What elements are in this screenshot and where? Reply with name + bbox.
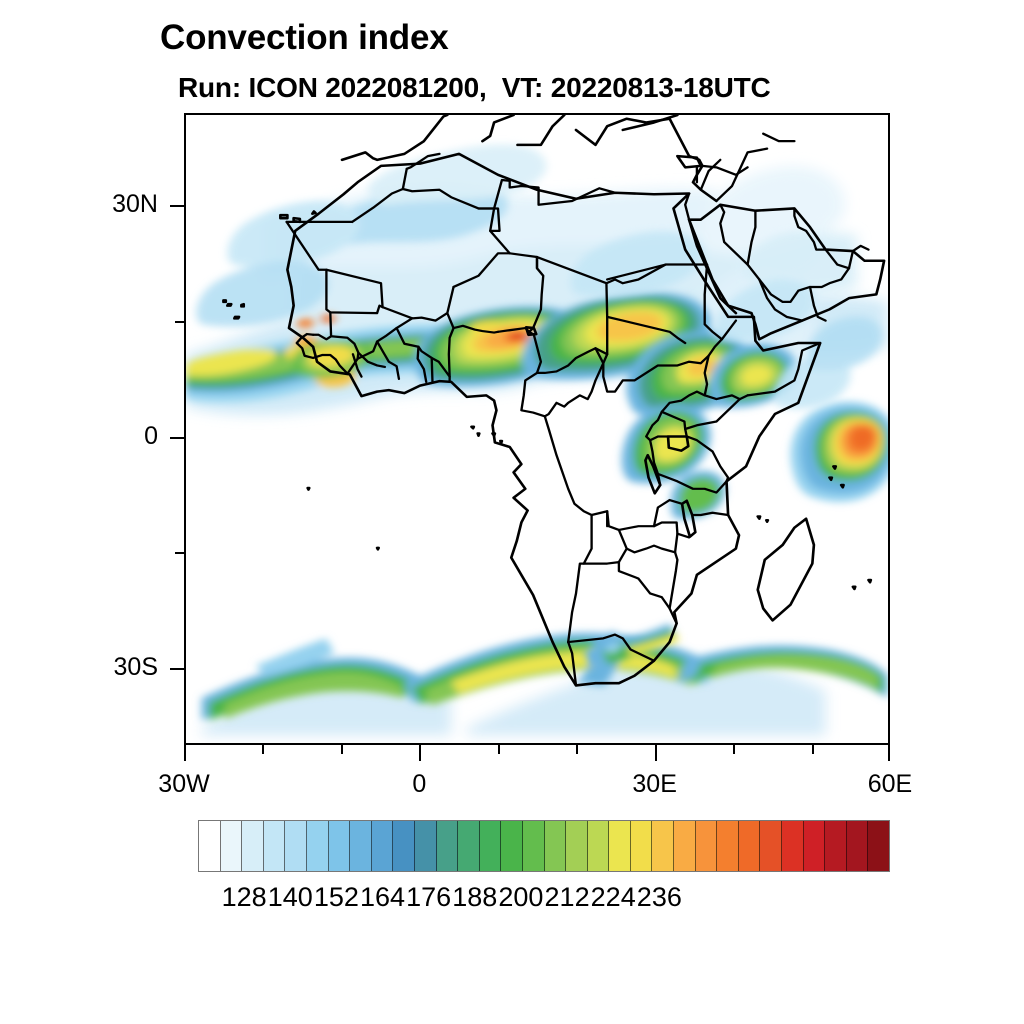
colorbar-cell (588, 821, 610, 871)
longitude-tick (419, 745, 421, 761)
colorbar-tick-label: 188 (452, 882, 497, 912)
colorbar-cell (458, 821, 480, 871)
longitude-tick (184, 745, 186, 761)
colorbar-cell (847, 821, 869, 871)
latitude-tick (175, 552, 184, 554)
colorbar-cell (415, 821, 437, 871)
longitude-tick (812, 745, 814, 754)
colorbar-cell (652, 821, 674, 871)
colorbar-tick-label: 200 (498, 882, 543, 912)
colorbar-cell (307, 821, 329, 871)
latitude-tick (170, 205, 184, 207)
colorbar-cell (717, 821, 739, 871)
chart-subtitle: Run: ICON 2022081200, VT: 20220813-18UTC (178, 72, 771, 104)
colorbar-tick-label: 176 (406, 882, 451, 912)
colorbar-tick-label: 140 (268, 882, 313, 912)
colorbar-cell (523, 821, 545, 871)
longitude-tick-label: 60E (830, 772, 950, 797)
colorbar-cell (501, 821, 523, 871)
colorbar-cell (609, 821, 631, 871)
colorbar-cell (545, 821, 567, 871)
colorbar-cell (631, 821, 653, 871)
longitude-tick (733, 745, 735, 754)
colorbar-cell (264, 821, 286, 871)
colorbar-cell (393, 821, 415, 871)
colorbar-tick-label: 224 (591, 882, 636, 912)
colorbar-tick-label: 128 (222, 882, 267, 912)
colorbar-cell (199, 821, 221, 871)
colorbar-cell (566, 821, 588, 871)
colorbar-cell (242, 821, 264, 871)
colorbar-cell (782, 821, 804, 871)
longitude-tick (262, 745, 264, 754)
colorbar-cell (760, 821, 782, 871)
latitude-tick-label: 0 (68, 424, 158, 449)
colorbar-cell (285, 821, 307, 871)
longitude-axis: 30W030E60E (184, 745, 890, 805)
chart-title: Convection index (160, 18, 449, 58)
colorbar-cell (696, 821, 718, 871)
longitude-tick (498, 745, 500, 754)
latitude-tick (170, 668, 184, 670)
colorbar-tick-label: 164 (360, 882, 405, 912)
longitude-tick-label: 0 (359, 772, 479, 797)
colorbar-tick-label: 152 (314, 882, 359, 912)
longitude-tick-label: 30E (595, 772, 715, 797)
colorbar-cell (674, 821, 696, 871)
latitude-axis: 30N030S (60, 113, 184, 745)
colorbar-cell (825, 821, 847, 871)
latitude-tick (175, 321, 184, 323)
colorbar-cell (350, 821, 372, 871)
colorbar-tick-label: 236 (637, 882, 682, 912)
longitude-tick (576, 745, 578, 754)
latitude-tick (170, 437, 184, 439)
latitude-tick-label: 30S (68, 655, 158, 680)
longitude-tick-label: 30W (124, 772, 244, 797)
colorbar-cell (221, 821, 243, 871)
longitude-tick (341, 745, 343, 754)
colorbar-cell (329, 821, 351, 871)
colorbar-labels: 128140152164176188200212224236 (198, 882, 890, 918)
colorbar-cell (739, 821, 761, 871)
colorbar-cell (804, 821, 826, 871)
colorbar-cell (372, 821, 394, 871)
colorbar-cell (868, 821, 889, 871)
latitude-tick-label: 30N (68, 192, 158, 217)
map-graphic (186, 115, 888, 743)
longitude-tick (888, 745, 890, 761)
colorbar-tick-label: 212 (545, 882, 590, 912)
map-plot-area (184, 113, 890, 745)
colorbar (198, 820, 890, 872)
longitude-tick (655, 745, 657, 761)
colorbar-cell (480, 821, 502, 871)
colorbar-cell (437, 821, 459, 871)
